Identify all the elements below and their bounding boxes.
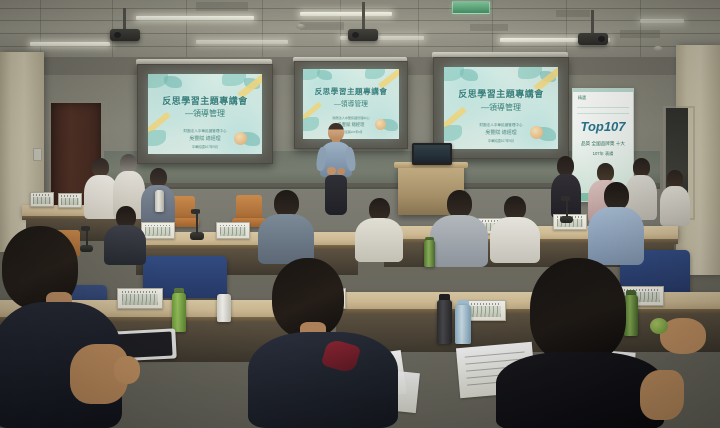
thermos-bottle[interactable] bbox=[155, 190, 164, 212]
slide-subtitle: —領導管理 bbox=[303, 98, 399, 108]
banner-line-2: 107年 表揚 bbox=[573, 151, 633, 157]
ceiling-light-strip bbox=[640, 19, 684, 23]
slide-title: 反思學習主題專講會 bbox=[148, 94, 262, 107]
projection-screen-right: 反思學習主題專講會 —領導管理 財團法人中華民國管理中心 吳豐賦 總經理 中華民… bbox=[433, 57, 569, 159]
thermos-bottle[interactable] bbox=[437, 294, 452, 344]
slide-avatar bbox=[530, 126, 543, 139]
thermos-bottle[interactable] bbox=[217, 294, 231, 322]
slide-avatar bbox=[234, 132, 247, 145]
person-torso bbox=[496, 352, 664, 428]
microphone[interactable] bbox=[190, 208, 204, 240]
presenter-legs bbox=[325, 175, 347, 215]
slide-right: 反思學習主題專講會 —領導管理 財團法人中華民國管理中心 吳豐賦 總經理 中華民… bbox=[444, 67, 558, 149]
smoke-detector bbox=[296, 24, 305, 29]
audience-member bbox=[660, 170, 690, 224]
laptop[interactable] bbox=[412, 143, 452, 165]
person-head bbox=[530, 258, 626, 362]
foreground-audience-member-right bbox=[490, 258, 670, 428]
ceiling-light-strip bbox=[300, 12, 392, 16]
ceiling-light-strip bbox=[136, 16, 254, 20]
light-switch[interactable] bbox=[33, 148, 42, 161]
presenter bbox=[316, 123, 356, 215]
thermos-bottle[interactable] bbox=[172, 288, 186, 332]
ceiling-projector bbox=[110, 8, 140, 42]
microphone[interactable] bbox=[560, 196, 573, 223]
ceiling-light-strip bbox=[196, 40, 288, 44]
ceiling-light-strip bbox=[30, 42, 110, 46]
slide-subtitle: —領導管理 bbox=[444, 102, 558, 113]
slide-subtitle: —領導管理 bbox=[148, 108, 262, 119]
slide-avatar bbox=[375, 119, 386, 130]
name-placard bbox=[141, 222, 175, 239]
smoke-detector bbox=[653, 46, 663, 52]
audience-member bbox=[430, 190, 488, 266]
slide-left: 反思學習主題專講會 —領導管理 財團法人中華民國管理中心 吳豐賦 總經理 中華民… bbox=[148, 74, 262, 154]
foreground-audience-member-left bbox=[0, 226, 142, 428]
exit-sign bbox=[452, 1, 490, 14]
audience-member bbox=[588, 182, 644, 264]
audience-member bbox=[490, 196, 540, 262]
audience-member bbox=[355, 198, 403, 260]
thermos-bottle[interactable] bbox=[424, 237, 435, 267]
name-placard bbox=[58, 193, 82, 208]
audience-member bbox=[258, 190, 314, 262]
banner-headline: Top107 bbox=[573, 119, 633, 134]
ceiling-projector bbox=[578, 10, 608, 46]
name-placard bbox=[216, 222, 250, 239]
name-placard bbox=[30, 192, 54, 207]
person-torso bbox=[248, 332, 398, 428]
slide-footer-3: 中華民國107年9月 bbox=[148, 145, 262, 150]
small-green-object bbox=[650, 318, 668, 334]
foreground-audience-member-center bbox=[248, 258, 398, 428]
banner-line-1: 品質 全國品牌獎 十大 bbox=[573, 141, 633, 147]
ceiling-projector bbox=[348, 2, 378, 44]
slide-footer-3: 中華民國107年9月 bbox=[444, 139, 558, 144]
slide-title: 反思學習主題專講會 bbox=[303, 86, 399, 97]
banner-top-label: 精選 bbox=[578, 95, 586, 101]
projection-screen-left: 反思學習主題專講會 —領導管理 財團法人中華民國管理中心 吳豐賦 總經理 中華民… bbox=[137, 64, 273, 164]
seminar-room-photo: 反思學習主題專講會 —領導管理 財團法人中華民國管理中心 吳豐賦 總經理 中華民… bbox=[0, 0, 720, 428]
thermos-bottle[interactable] bbox=[455, 300, 471, 344]
slide-title: 反思學習主題專講會 bbox=[444, 87, 558, 100]
